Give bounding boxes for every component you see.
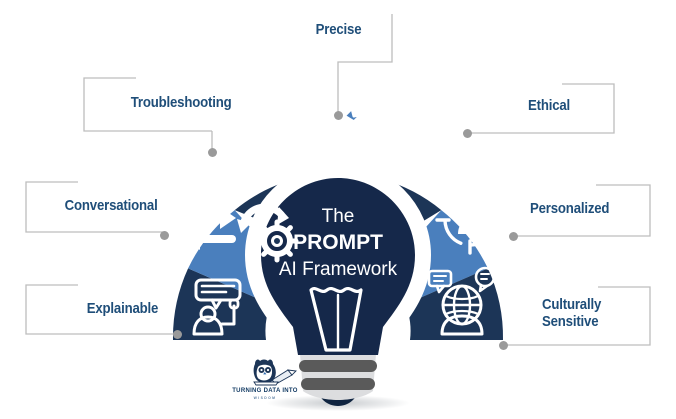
callout-troubleshooting[interactable]: Troubleshooting xyxy=(84,88,239,122)
dot-ethical xyxy=(463,129,472,138)
callout-ethical[interactable]: Ethical xyxy=(520,95,630,125)
label-conversational: Conversational xyxy=(65,197,158,214)
label-troubleshooting: Troubleshooting xyxy=(130,94,231,111)
heart-in-hands-icon xyxy=(392,123,458,178)
label-personalized: Personalized xyxy=(530,200,609,217)
callout-explainable[interactable]: Explainable xyxy=(26,296,166,328)
logo-tagline: TURNING DATA INTO xyxy=(222,388,308,394)
dot-troubleshooting xyxy=(208,148,217,157)
dot-explainable xyxy=(173,330,182,339)
logo-subtagline: WISDOM xyxy=(222,396,308,400)
label-ethical: Ethical xyxy=(528,97,570,114)
center-title-line2: PROMPT xyxy=(293,231,383,254)
label-culturally-sensitive: Culturally Sensitive xyxy=(542,296,601,330)
prompt-ai-framework-diagram: The PROMPT AI Framework xyxy=(0,0,676,419)
center-title-line3: AI Framework xyxy=(279,259,398,280)
bulb-base-ring-2 xyxy=(301,378,375,390)
owl-logo: TURNING DATA INTO WISDOM xyxy=(222,358,308,408)
bulb-base-ring-1 xyxy=(299,360,377,372)
callout-precise[interactable]: Precise xyxy=(285,18,392,48)
dot-culturally-sensitive xyxy=(499,341,508,350)
label-precise: Precise xyxy=(291,21,385,38)
center-title-line1: The xyxy=(322,206,355,227)
callout-culturally-sensitive[interactable]: Culturally Sensitive xyxy=(534,294,654,340)
dot-personalized xyxy=(509,232,518,241)
dot-conversational xyxy=(160,231,169,240)
label-explainable: Explainable xyxy=(87,300,158,317)
callout-personalized[interactable]: Personalized xyxy=(522,196,657,228)
dot-precise xyxy=(334,111,343,120)
owl-logo-mark xyxy=(222,358,308,390)
callout-conversational[interactable]: Conversational xyxy=(26,193,166,225)
